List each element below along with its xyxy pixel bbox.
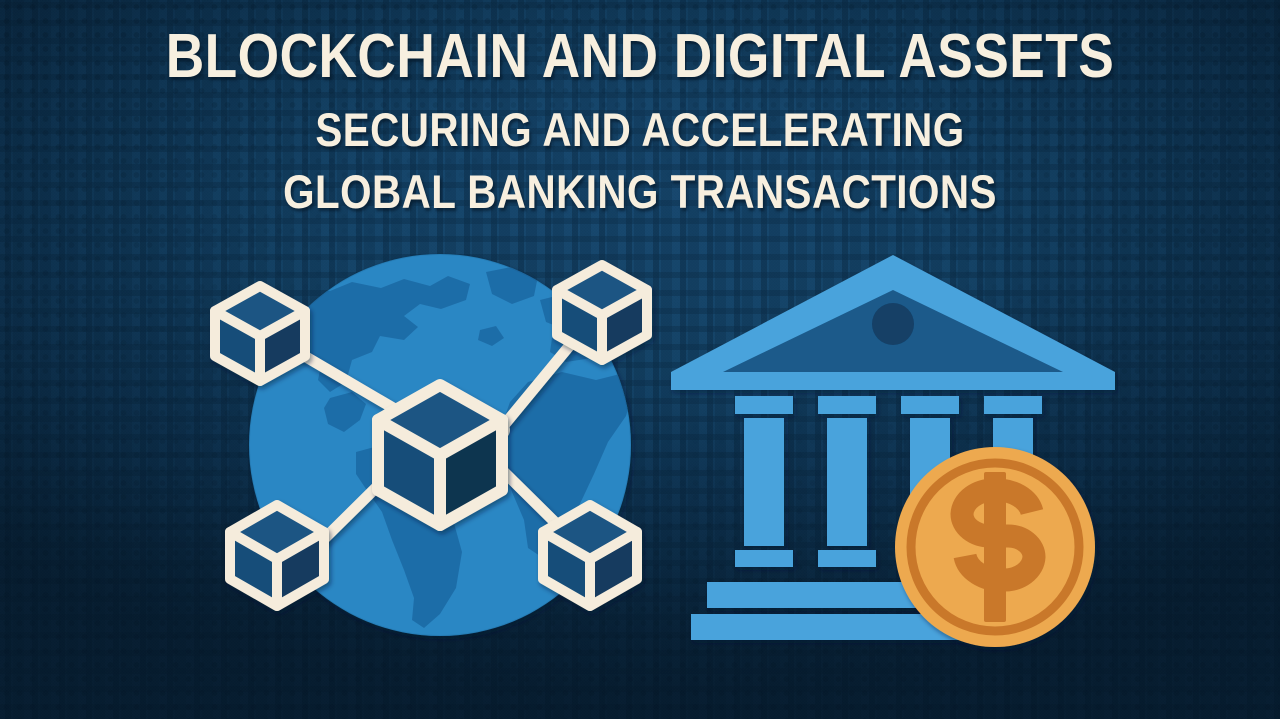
subtitle-line-1: SECURING AND ACCELERATING xyxy=(90,106,1191,153)
subtitle-line-2: GLOBAL BANKING TRANSACTIONS xyxy=(90,168,1191,215)
node-bottom-left-cube xyxy=(230,505,324,606)
page-title: BLOCKCHAIN AND DIGITAL ASSETS xyxy=(90,26,1191,88)
poster-canvas: BLOCKCHAIN AND DIGITAL ASSETS SECURING A… xyxy=(0,0,1280,719)
node-top-left-cube xyxy=(215,286,305,381)
node-bottom-right-cube xyxy=(543,505,637,606)
node-center-cube xyxy=(378,385,502,525)
title-block: BLOCKCHAIN AND DIGITAL ASSETS SECURING A… xyxy=(0,0,1280,215)
node-top-right-cube xyxy=(557,265,647,360)
dollar-coin-graphic xyxy=(895,447,1095,647)
